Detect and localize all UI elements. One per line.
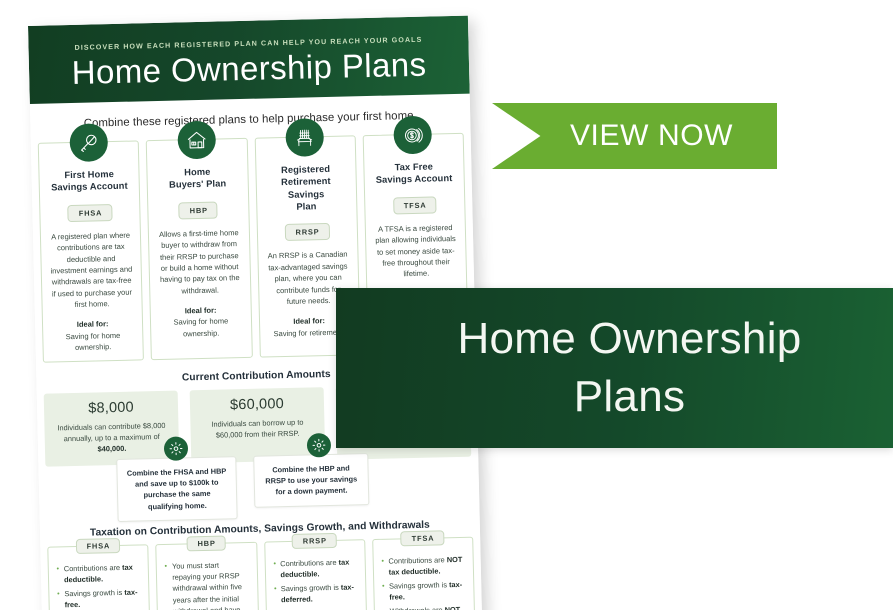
list-item: Savings growth is tax-free. bbox=[382, 579, 467, 604]
taxation-acronym-badge: HBP bbox=[186, 535, 225, 551]
plan-acronym-badge: TFSA bbox=[393, 196, 437, 214]
plan-card-hbp[interactable]: Home Buyers' Plan HBP Allows a first-tim… bbox=[146, 138, 252, 361]
list-item: You must start repaying your RRSP withdr… bbox=[165, 558, 251, 610]
plan-description: A TFSA is a registered plan allowing ind… bbox=[373, 222, 460, 281]
list-item: Contributions are tax deductible. bbox=[273, 556, 358, 581]
taxation-card-fhsa[interactable]: FHSA Contributions are tax deductible. S… bbox=[47, 544, 151, 610]
plan-ideal-label: Ideal for: bbox=[77, 320, 109, 330]
plan-ideal-for: Ideal for: Saving for home ownership. bbox=[158, 304, 244, 340]
key-icon bbox=[69, 123, 108, 162]
plan-acronym-badge: FHSA bbox=[68, 204, 113, 222]
taxation-acronym-badge: TFSA bbox=[401, 530, 445, 546]
plan-acronym-badge: HBP bbox=[178, 201, 218, 219]
list-item: Contributions are tax deductible. bbox=[57, 561, 142, 586]
adirondack-chair-icon bbox=[285, 118, 324, 157]
taxation-acronym-badge: RRSP bbox=[292, 532, 337, 548]
taxation-acronym-badge: FHSA bbox=[75, 538, 120, 554]
contribution-desc-emphasis: $40,000. bbox=[97, 444, 126, 454]
poster-hero-banner: DISCOVER HOW EACH REGISTERED PLAN CAN HE… bbox=[28, 16, 470, 104]
plan-description: Allows a first-time home buyer to withdr… bbox=[156, 227, 243, 297]
combine-note-hbp-rrsp: Combine the HBP and RRSP to use your sav… bbox=[253, 453, 369, 508]
contribution-card-hbp[interactable]: $60,000 Individuals can borrow up to $60… bbox=[190, 387, 326, 462]
taxation-card-rrsp[interactable]: RRSP Contributions are tax deductible. S… bbox=[264, 539, 368, 610]
house-icon bbox=[177, 121, 216, 160]
contribution-description: Individuals can borrow up to $60,000 fro… bbox=[198, 417, 316, 442]
contribution-card-fhsa[interactable]: $8,000 Individuals can contribute $8,000… bbox=[44, 391, 180, 466]
plan-ideal-label: Ideal for: bbox=[293, 316, 325, 326]
list-item: Contributions are NOT tax deductible. bbox=[381, 553, 466, 578]
taxation-bullet-list: Contributions are tax deductible. Saving… bbox=[273, 556, 359, 610]
plan-name: Tax Free Savings Account bbox=[371, 160, 457, 187]
taxation-bullet-list: You must start repaying your RRSP withdr… bbox=[165, 558, 252, 610]
list-item: Withdrawals are NOT taxable. bbox=[383, 604, 468, 610]
taxation-card-row: FHSA Contributions are tax deductible. S… bbox=[40, 536, 483, 610]
plan-name: Home Buyers' Plan bbox=[155, 165, 241, 192]
contribution-desc-text: Individuals can borrow up to $60,000 fro… bbox=[211, 418, 303, 440]
plan-name: First Home Savings Account bbox=[46, 168, 132, 195]
poster-title: Home Ownership Plans bbox=[71, 47, 426, 88]
view-now-button[interactable]: VIEW NOW bbox=[492, 103, 777, 169]
title-overlay-panel: Home Ownership Plans bbox=[336, 288, 893, 448]
contribution-desc-text: Individuals can contribute $8,000 annual… bbox=[57, 421, 165, 444]
list-item: Savings growth is tax-deferred. bbox=[274, 581, 359, 606]
plan-ideal-label: Ideal for: bbox=[185, 306, 217, 316]
contribution-amount: $8,000 bbox=[52, 399, 170, 418]
plan-ideal-value: Saving for home ownership. bbox=[173, 317, 228, 338]
screenshot-canvas: DISCOVER HOW EACH REGISTERED PLAN CAN HE… bbox=[0, 0, 893, 610]
dollar-coin-icon bbox=[394, 116, 433, 155]
title-overlay-text: Home Ownership Plans bbox=[427, 310, 801, 426]
taxation-bullet-list: Contributions are tax deductible. Saving… bbox=[57, 561, 143, 610]
list-item: Savings growth is tax-free. bbox=[57, 586, 142, 610]
view-now-label: VIEW NOW bbox=[570, 119, 733, 153]
plan-ideal-value: Saving for home ownership. bbox=[66, 331, 121, 352]
plan-description: A registered plan where contributions ar… bbox=[48, 229, 135, 311]
contribution-amount: $60,000 bbox=[198, 396, 316, 415]
plan-ideal-value: Saving for retirement. bbox=[273, 327, 345, 338]
taxation-bullet-list: Contributions are NOT tax deductible. Sa… bbox=[381, 553, 467, 610]
plan-ideal-for: Ideal for: Saving for home ownership. bbox=[50, 318, 136, 354]
plan-acronym-badge: RRSP bbox=[284, 223, 329, 241]
plan-card-fhsa[interactable]: First Home Savings Account FHSA A regist… bbox=[38, 140, 144, 363]
contribution-description: Individuals can contribute $8,000 annual… bbox=[52, 420, 171, 456]
taxation-card-tfsa[interactable]: TFSA Contributions are NOT tax deductibl… bbox=[372, 536, 476, 610]
combine-note-fhsa-hbp: Combine the FHSA and HBP and save up to … bbox=[116, 456, 237, 523]
plan-name: Registered Retirement Savings Plan bbox=[263, 162, 349, 213]
taxation-card-hbp[interactable]: HBP You must start repaying your RRSP wi… bbox=[155, 541, 259, 610]
